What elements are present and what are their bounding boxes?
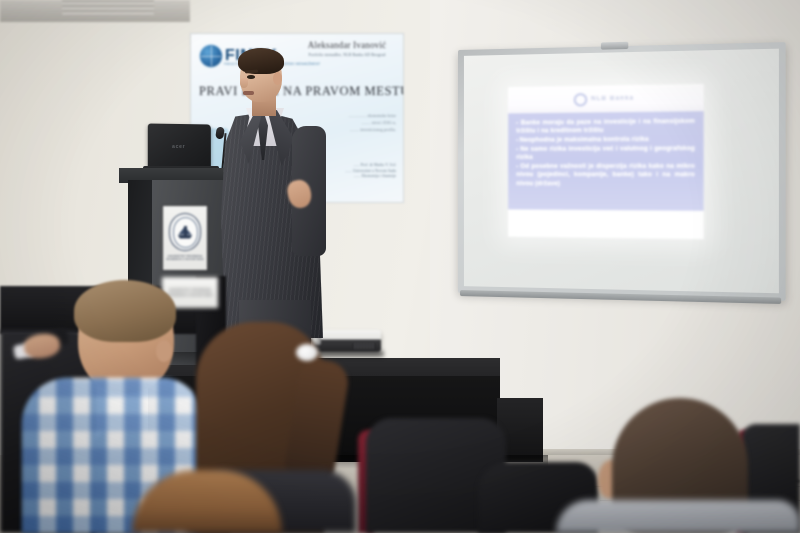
laptop[interactable]: acer [148,123,211,171]
podium-emblem-plate: UNIVERZITET PRIVREDNA AKADEMIJA U NOVOM … [163,206,207,270]
ship-glyph [178,226,193,239]
audience-person-front-right-shirt [556,500,800,533]
speaker-mouth [243,91,254,95]
speaker-nose [240,78,248,88]
slide-header: NLB Banka [508,84,704,113]
presentation-photo-scene: FIMEK FAKULTET ZA EKONOMIJU I INŽENJERSK… [0,0,800,533]
banner-speaker-name: Aleksandar Ivanović [295,40,399,50]
slide-bullet: Neophodna je maksimalna kontrola rizika [516,135,695,145]
slide-bullet-list: Banke moraju da paze na investicije i na… [508,111,704,211]
slide-bullet: Od posebne važnosti je disperzija rizika… [516,163,695,189]
ceiling-vent-icon [62,0,154,16]
hair-scrunchie-icon [296,344,318,361]
speaker-ear [273,72,282,85]
podium-emblem-caption: UNIVERZITET PRIVREDNA AKADEMIJA U NOVOM … [163,255,207,262]
whiteboard-clip [601,42,628,50]
slide-footer [508,209,704,239]
whiteboard: NLB Banka Banke moraju da paze na invest… [458,42,786,301]
laptop-brand-logo: acer [172,144,185,150]
venue-wall-sign-text: UNIVERZITET PRIVREDNA AKADEMIJA U NOVOM … [162,288,218,297]
banner-body-line: ................. ekonomske krize [276,112,396,119]
sail-glyph [179,227,192,235]
university-seal-ship-icon [169,213,201,251]
circle-mark-icon [574,93,588,107]
globe-icon [200,45,222,67]
slide-bullet: Ne samo rizika investicija već i valutno… [516,145,695,163]
slide-header-logo-text: NLB Banka [591,95,634,102]
projector [313,330,381,352]
projector-vent-icon [353,343,375,349]
slide-bullet: Banke moraju da paze na investicije i na… [516,118,695,137]
audience-person-front-left-ear [156,340,172,362]
banner-slogan: PRAVI LJUDI NA PRAVOM MESTU [199,84,399,99]
speaker-eye [247,75,255,79]
projected-slide: NLB Banka Banke moraju da paze na invest… [508,84,704,239]
banner-speaker-role: Portfolio menadžer, NLB Banka AD Beograd [291,52,403,57]
audience-person-front-left-hair [74,280,176,342]
